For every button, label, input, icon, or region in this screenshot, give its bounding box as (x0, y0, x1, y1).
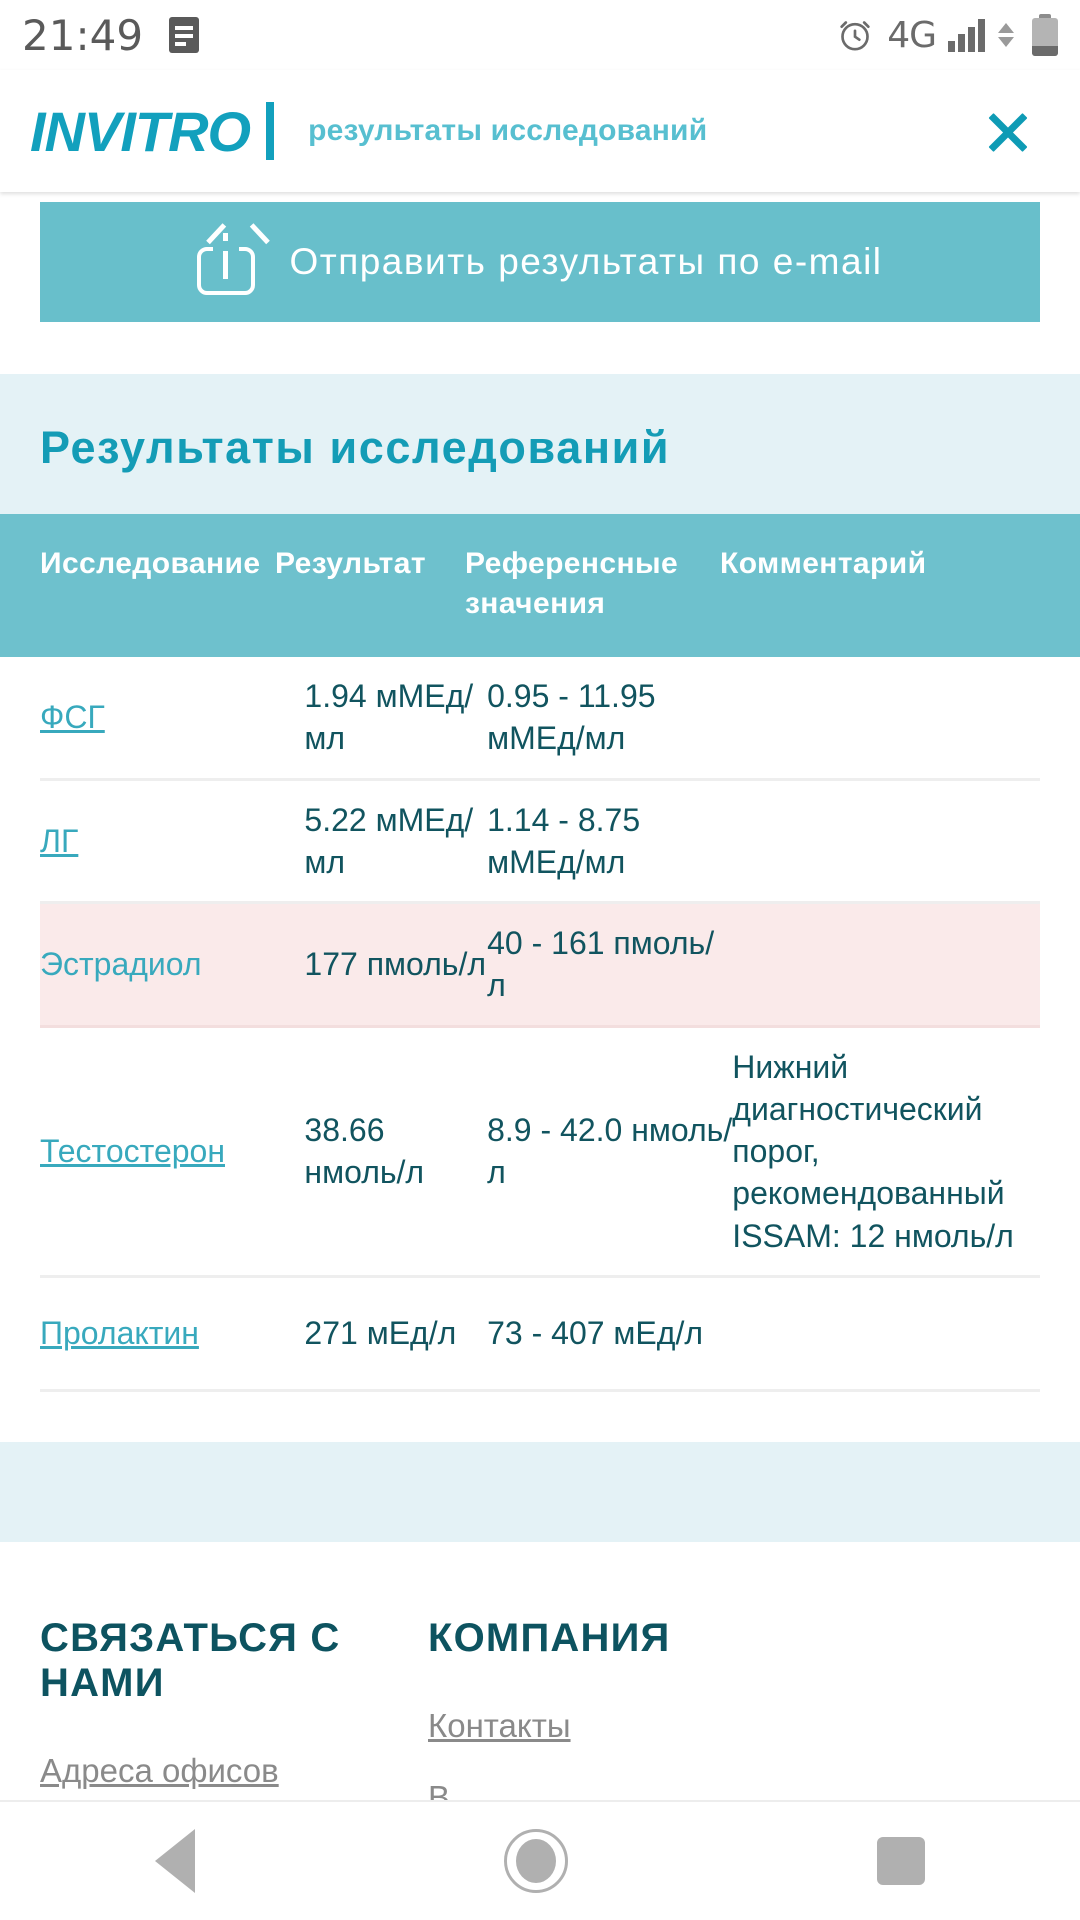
page-footer: СВЯЗАТЬСЯ С НАМИ Адреса офисов 8 (800) 2… (0, 1542, 1080, 1800)
logo-divider (266, 102, 274, 160)
cell-study: Пролактин (40, 1294, 304, 1372)
footer-column-contact: СВЯЗАТЬСЯ С НАМИ Адреса офисов 8 (800) 2… (0, 1616, 428, 1800)
status-bar: 21:49 4G (0, 0, 1080, 70)
footer-company-cut[interactable]: В (428, 1779, 948, 1800)
footer-column-company: КОМПАНИЯ Контакты В (428, 1616, 948, 1800)
cell-result: 271 мЕд/л (304, 1294, 487, 1372)
cell-result: 38.66 нмоль/л (304, 1091, 487, 1211)
cell-result: 5.22 мМЕд/мл (304, 781, 487, 901)
cell-comment (732, 946, 1040, 982)
footer-link-offices[interactable]: Адреса офисов (40, 1752, 428, 1790)
status-bar-left: 21:49 (0, 11, 199, 60)
column-header-result: Результат (275, 544, 465, 623)
cell-comment (732, 699, 1040, 735)
app-header: INVITRO результаты исследований (0, 70, 1080, 192)
table-row: ЛГ5.22 мМЕд/мл1.14 - 8.75 мМЕд/мл (40, 781, 1040, 904)
cell-comment (732, 823, 1040, 859)
cell-study: ФСГ (40, 678, 304, 756)
invitro-logo[interactable]: INVITRO (30, 99, 250, 164)
cell-reference: 73 - 407 мЕд/л (487, 1294, 732, 1372)
cell-reference: 40 - 161 пмоль/л (487, 904, 732, 1024)
send-results-email-button[interactable]: Отправить результаты по e-mail (40, 202, 1040, 322)
back-icon[interactable] (155, 1829, 195, 1893)
table-row: Тестостерон38.66 нмоль/л8.9 - 42.0 нмоль… (40, 1028, 1040, 1278)
table-row: Эстрадиол177 пмоль/л40 - 161 пмоль/л (40, 904, 1040, 1027)
signal-bars-icon (948, 18, 985, 52)
study-name-link[interactable]: ФСГ (40, 699, 105, 735)
results-section-band: Результаты исследований (0, 374, 1080, 514)
cell-reference: 0.95 - 11.95 мМЕд/мл (487, 657, 732, 777)
cell-comment (732, 1315, 1040, 1351)
app-screen: 21:49 4G INVITRO (0, 0, 1080, 1920)
study-name-link[interactable]: Тестостерон (40, 1133, 225, 1169)
footer-heading-company: КОМПАНИЯ (428, 1616, 948, 1661)
network-type-label: 4G (887, 15, 936, 56)
study-name-link[interactable]: ЛГ (40, 823, 78, 859)
column-header-study: Исследование (0, 544, 275, 623)
cell-study: Тестостерон (40, 1112, 304, 1190)
cell-study: Эстрадиол (40, 925, 304, 1003)
battery-icon (1032, 14, 1058, 56)
column-header-comment: Комментарий (720, 544, 1040, 623)
table-row: Пролактин271 мЕд/л73 - 407 мЕд/л (40, 1278, 1040, 1392)
header-subtitle: результаты исследований (308, 114, 707, 148)
table-bottom-spacer (0, 1392, 1080, 1442)
cell-reference: 8.9 - 42.0 нмоль/л (487, 1091, 732, 1211)
cell-comment: Нижний диагностический порог, рекомендов… (732, 1028, 1040, 1275)
share-upload-icon (197, 229, 255, 295)
alarm-clock-icon (835, 15, 875, 55)
table-body: ФСГ1.94 мМЕд/мл0.95 - 11.95 мМЕд/млЛГ5.2… (0, 657, 1080, 1392)
home-icon[interactable] (504, 1829, 568, 1893)
page-title: Результаты исследований (40, 422, 1080, 474)
recents-icon[interactable] (877, 1837, 925, 1885)
footer-link-contacts[interactable]: Контакты (428, 1707, 948, 1745)
data-transfer-icon (998, 23, 1014, 47)
table-row: ФСГ1.94 мМЕд/мл0.95 - 11.95 мМЕд/мл (40, 657, 1040, 780)
table-header-row: Исследование Результат Референсные значе… (0, 514, 1080, 657)
status-bar-right: 4G (835, 14, 1080, 56)
study-name-link[interactable]: Пролактин (40, 1315, 199, 1351)
close-icon[interactable] (978, 101, 1038, 161)
status-time: 21:49 (22, 11, 143, 60)
column-header-reference: Референсные значения (465, 544, 720, 623)
study-name-text: Эстрадиол (40, 946, 202, 982)
results-table: Исследование Результат Референсные значе… (0, 514, 1080, 1392)
page-content: Отправить результаты по e-mail Результат… (0, 192, 1080, 1800)
footer-divider-band (0, 1442, 1080, 1542)
cell-result: 1.94 мМЕд/мл (304, 657, 487, 777)
send-results-email-label: Отправить результаты по e-mail (289, 241, 882, 283)
cell-result: 177 пмоль/л (304, 925, 487, 1003)
sim-card-icon (169, 17, 199, 53)
android-nav-bar (0, 1800, 1080, 1920)
footer-heading-contact: СВЯЗАТЬСЯ С НАМИ (40, 1616, 428, 1706)
cell-reference: 1.14 - 8.75 мМЕд/мл (487, 781, 732, 901)
cell-study: ЛГ (40, 802, 304, 880)
